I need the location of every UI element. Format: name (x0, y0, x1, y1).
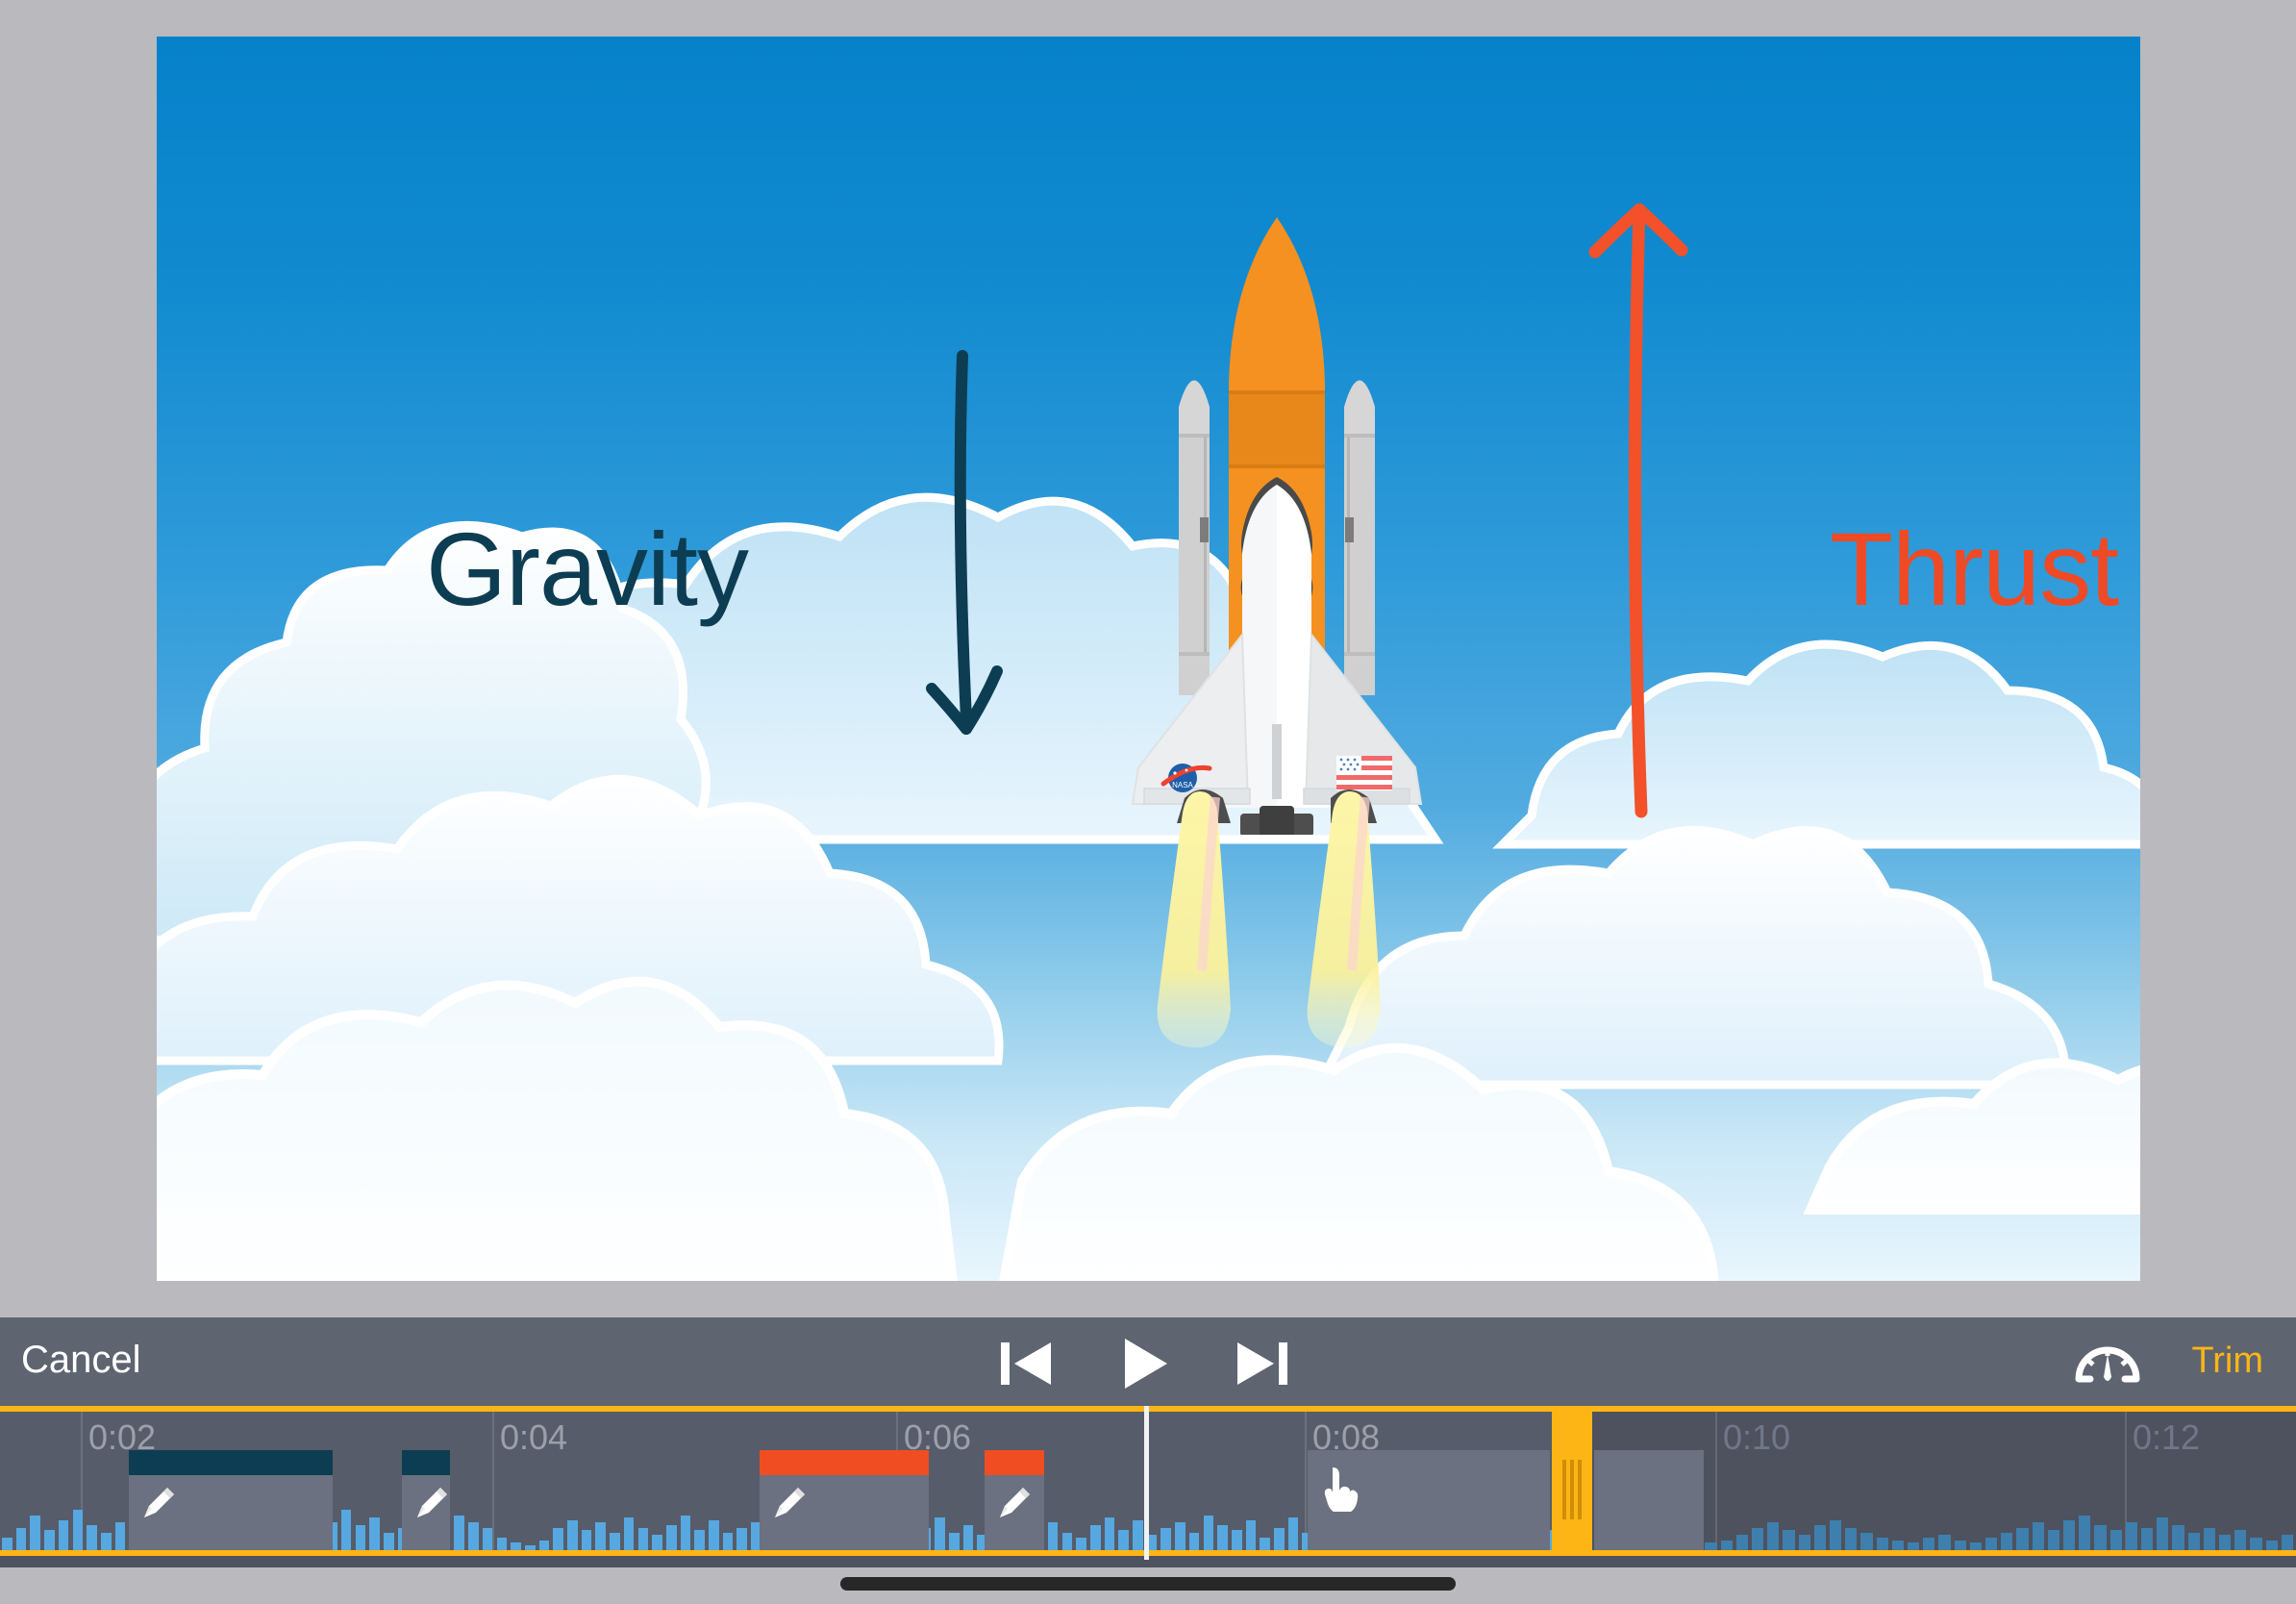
clip-header (402, 1450, 450, 1475)
waveform-bar (1048, 1522, 1059, 1550)
video-preview-area: NASA (0, 0, 2296, 1317)
waveform-bar (610, 1533, 620, 1550)
pencil-icon (994, 1481, 1036, 1523)
clip-annotation-1[interactable] (129, 1450, 333, 1550)
waveform-bar (666, 1525, 677, 1550)
skip-forward-button[interactable] (1232, 1337, 1293, 1391)
waveform-bar (736, 1528, 747, 1550)
waveform-bar (1160, 1528, 1171, 1550)
play-button[interactable] (1117, 1335, 1171, 1392)
waveform-bar (2126, 1522, 2137, 1550)
waveform-bar (709, 1520, 719, 1550)
waveform-bar (1260, 1538, 1270, 1550)
clip-header (129, 1450, 333, 1475)
waveform-bar (2282, 1535, 2293, 1550)
trim-button[interactable]: Trim (2191, 1341, 2263, 1382)
waveform-bar (2172, 1525, 2184, 1550)
waveform-bar (694, 1530, 705, 1550)
waveform-bar (1860, 1533, 1872, 1550)
waveform-bar (2188, 1533, 2200, 1550)
speedometer-icon[interactable] (2073, 1331, 2142, 1389)
waveform-bar (1985, 1538, 1997, 1550)
engine-exhaust (1075, 791, 1479, 1109)
up-arrow-annotation (1551, 190, 1705, 825)
waveform-bar (356, 1525, 366, 1550)
waveform-bar (30, 1516, 40, 1550)
waveform-bar (582, 1530, 592, 1550)
cancel-button[interactable]: Cancel (21, 1339, 141, 1382)
timeline-tick (1305, 1412, 1307, 1550)
waveform-bar (1217, 1525, 1228, 1550)
grip-line (1562, 1460, 1566, 1519)
waveform-bar (16, 1528, 27, 1550)
waveform-bar (497, 1538, 508, 1550)
waveform-bar (1877, 1538, 1888, 1550)
waveform-bar (1246, 1520, 1257, 1550)
down-arrow-annotation (897, 344, 1051, 748)
waveform-bar (1105, 1517, 1115, 1550)
playhead[interactable] (1144, 1406, 1149, 1560)
clip-touch-1[interactable] (1308, 1450, 1550, 1550)
waveform-bar (1767, 1522, 1779, 1550)
waveform-bar (2048, 1530, 2059, 1550)
gravity-text-annotation: Gravity (426, 517, 748, 621)
waveform-bar (2110, 1530, 2122, 1550)
trim-end-handle[interactable] (1552, 1406, 1592, 1556)
waveform-bar (2063, 1520, 2075, 1550)
waveform-bar (468, 1522, 479, 1550)
waveform-bar (553, 1528, 563, 1550)
clip-touch-2[interactable] (1594, 1450, 1704, 1550)
waveform-bar (1799, 1535, 1810, 1550)
waveform-bar (2219, 1535, 2231, 1550)
waveform-bar (1076, 1538, 1086, 1550)
waveform-bar (2001, 1533, 2012, 1550)
waveform-bar (595, 1522, 606, 1550)
thrust-text-annotation: Thrust (1830, 517, 2118, 621)
waveform-bar (454, 1516, 464, 1550)
waveform-bar (115, 1522, 126, 1550)
waveform-bar (624, 1517, 635, 1550)
pencil-icon (769, 1481, 811, 1523)
waveform-bar (44, 1530, 55, 1550)
editor-toolbar: Cancel Trim (0, 1317, 2296, 1406)
waveform-bar (1232, 1530, 1242, 1550)
space-shuttle-graphic: NASA (1104, 200, 1450, 835)
clip-header (760, 1450, 929, 1475)
waveform-bar (1783, 1530, 1794, 1550)
waveform-bar (2094, 1525, 2106, 1550)
waveform-bar (341, 1510, 352, 1550)
waveform-bar (539, 1541, 550, 1550)
waveform-bar (1970, 1542, 1982, 1550)
waveform-bar (87, 1525, 97, 1550)
waveform-bar (1955, 1541, 1966, 1550)
timeline-tick-label: 0:10 (1723, 1417, 1790, 1458)
transport-controls (995, 1335, 1293, 1392)
waveform-bar (1938, 1535, 1950, 1550)
waveform-bar (1118, 1530, 1129, 1550)
waveform-bar (935, 1517, 945, 1550)
waveform-bar (638, 1528, 649, 1550)
timeline-tick-label: 0:04 (500, 1417, 567, 1458)
waveform-bar (1133, 1520, 1143, 1550)
waveform-bar (525, 1545, 536, 1550)
waveform-bar (567, 1520, 578, 1550)
hand-pointer-icon (1317, 1464, 1360, 1506)
clip-annotation-2[interactable] (402, 1450, 450, 1550)
timeline-tick-label: 0:12 (2133, 1417, 2200, 1458)
pencil-icon (138, 1481, 181, 1523)
timeline-track[interactable]: 0:020:040:060:080:100:12 (0, 1406, 2296, 1567)
waveform-bar (963, 1525, 974, 1550)
waveform-bar (2033, 1522, 2044, 1550)
waveform-bar (1090, 1525, 1101, 1550)
waveform-bar (1814, 1525, 1826, 1550)
waveform-bar (369, 1517, 380, 1550)
waveform-bar (101, 1533, 112, 1550)
waveform-bar (384, 1533, 394, 1550)
svg-text:NASA: NASA (1172, 781, 1193, 789)
waveform-bar (1721, 1541, 1733, 1550)
pencil-icon (412, 1481, 454, 1523)
waveform-bar (2079, 1516, 2090, 1550)
clip-annotation-4[interactable] (985, 1450, 1044, 1550)
waveform-bar (1204, 1516, 1214, 1550)
waveform-bar (723, 1533, 734, 1550)
waveform-bar (652, 1535, 662, 1550)
waveform-bar (681, 1516, 691, 1550)
waveform-bar (2204, 1528, 2215, 1550)
waveform-bar (2016, 1528, 2028, 1550)
clip-annotation-3[interactable] (760, 1450, 929, 1550)
waveform-bar (1189, 1533, 1200, 1550)
waveform-bar (1062, 1533, 1073, 1550)
waveform-bar (1736, 1535, 1748, 1550)
waveform-bar (59, 1520, 69, 1550)
waveform-bar (2, 1538, 12, 1550)
waveform-bar (2141, 1528, 2153, 1550)
grip-line (1570, 1460, 1574, 1519)
waveform-bar (1908, 1542, 1919, 1550)
skip-back-button[interactable] (995, 1337, 1057, 1391)
home-indicator (840, 1577, 1456, 1591)
waveform-bar (1752, 1528, 1763, 1550)
video-frame[interactable]: NASA (157, 37, 2140, 1281)
waveform-bar (1175, 1522, 1185, 1550)
waveform-bar (1830, 1520, 1841, 1550)
waveform-bar (2234, 1530, 2246, 1550)
waveform-bar (1845, 1528, 1857, 1550)
us-flag-icon (1336, 756, 1392, 790)
waveform-bar (2250, 1538, 2261, 1550)
waveform-bar (511, 1542, 521, 1550)
waveform-bar (483, 1528, 493, 1550)
grip-line (1578, 1460, 1582, 1519)
waveform-bar (1705, 1542, 1716, 1550)
clip-header (985, 1450, 1044, 1475)
timeline-tick (1715, 1412, 1717, 1550)
waveform-bar (2266, 1541, 2278, 1550)
waveform-bar (1274, 1528, 1285, 1550)
waveform-bar (1288, 1517, 1299, 1550)
waveform-bar (2157, 1517, 2168, 1550)
waveform-bar (73, 1510, 84, 1550)
waveform-bar (1892, 1541, 1904, 1550)
waveform-bar (1923, 1538, 1934, 1550)
waveform-bar (949, 1533, 960, 1550)
